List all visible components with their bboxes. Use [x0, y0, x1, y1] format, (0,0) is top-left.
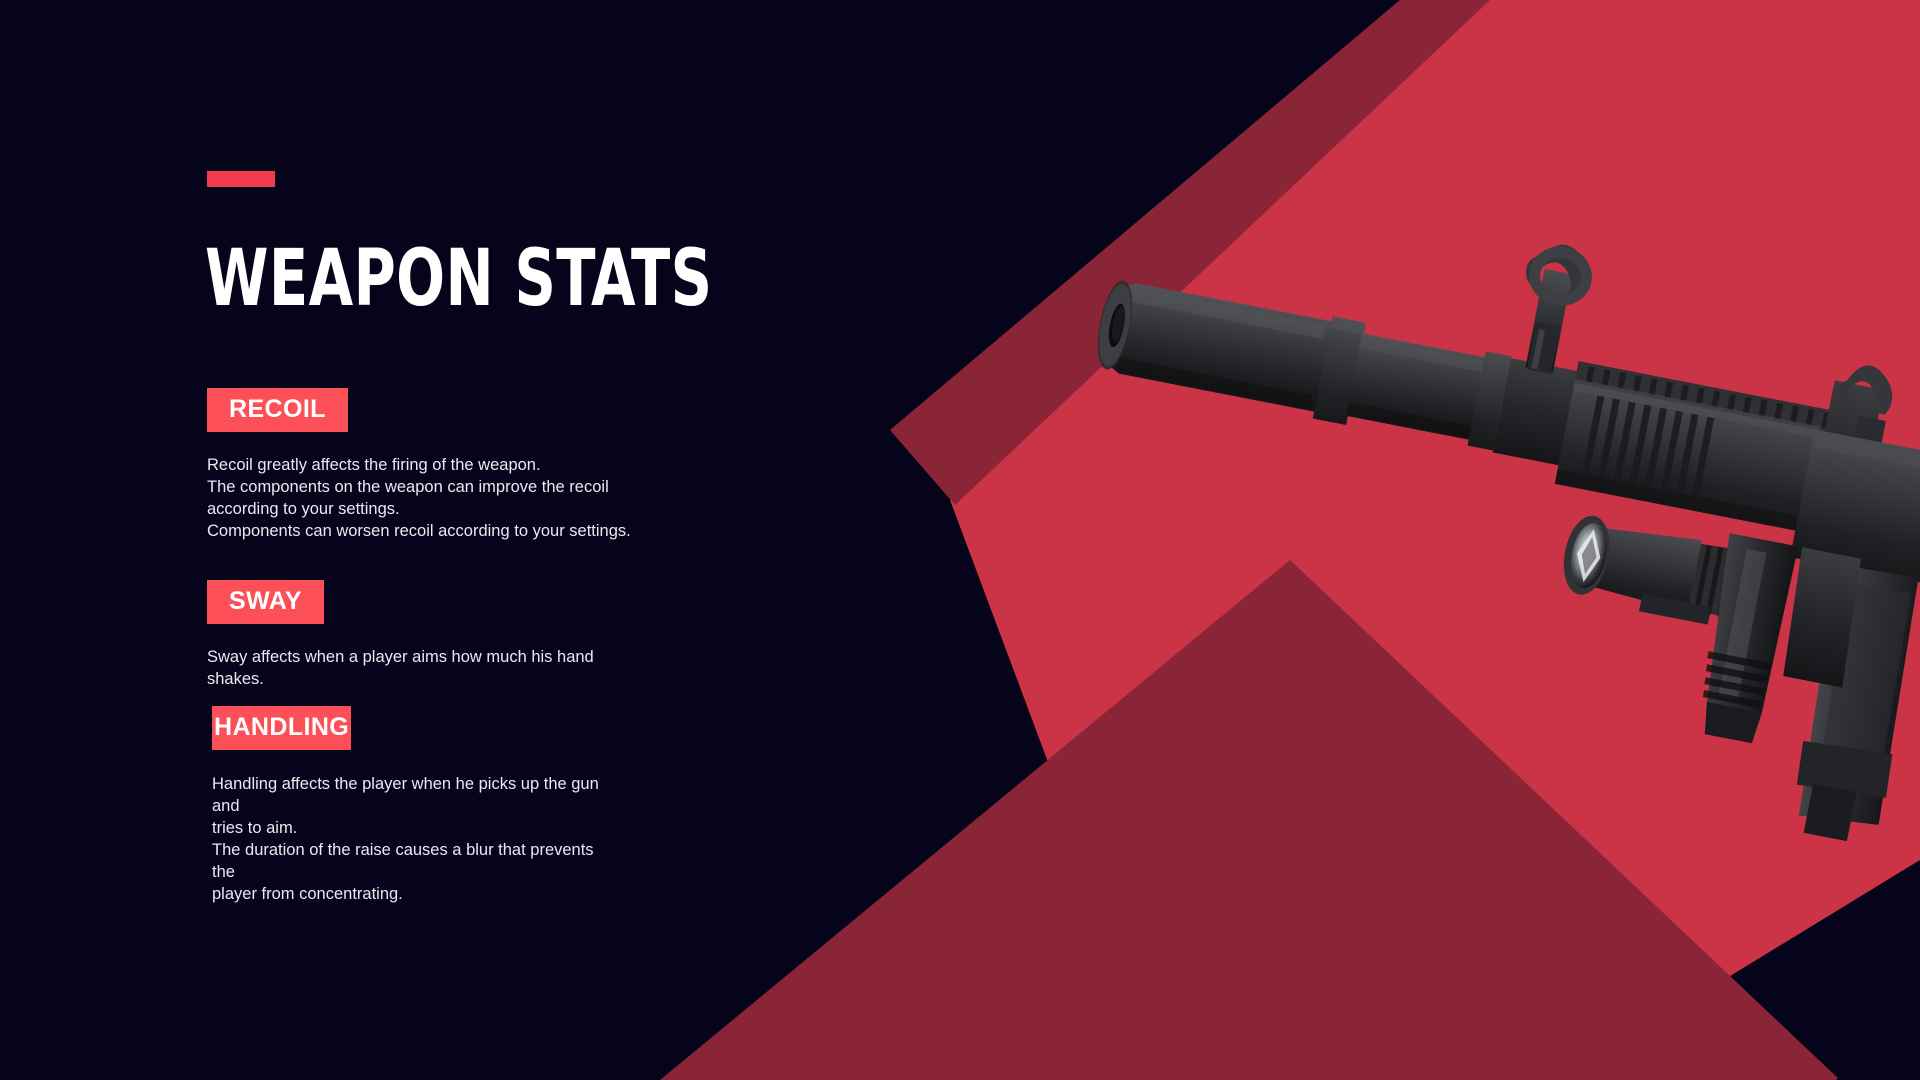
section-tag-recoil: RECOIL	[207, 388, 348, 432]
info-column: WEAPON STATS RECOIL Recoil greatly affec…	[0, 0, 760, 1080]
section-body-sway: Sway affects when a player aims how much…	[207, 646, 594, 690]
page-title: WEAPON STATS	[205, 236, 713, 322]
section-recoil: RECOIL Recoil greatly affects the firing…	[207, 388, 631, 542]
section-body-handling: Handling affects the player when he pick…	[212, 773, 612, 905]
section-tag-handling: HANDLING	[212, 706, 351, 750]
title-accent-bar	[207, 171, 275, 187]
section-tag-sway: SWAY	[207, 580, 324, 624]
section-sway: SWAY Sway affects when a player aims how…	[207, 580, 594, 690]
section-handling: HANDLING Handling affects the player whe…	[212, 706, 612, 905]
weapon-stats-screen: WEAPON STATS RECOIL Recoil greatly affec…	[0, 0, 1920, 1080]
section-body-recoil: Recoil greatly affects the firing of the…	[207, 454, 631, 542]
